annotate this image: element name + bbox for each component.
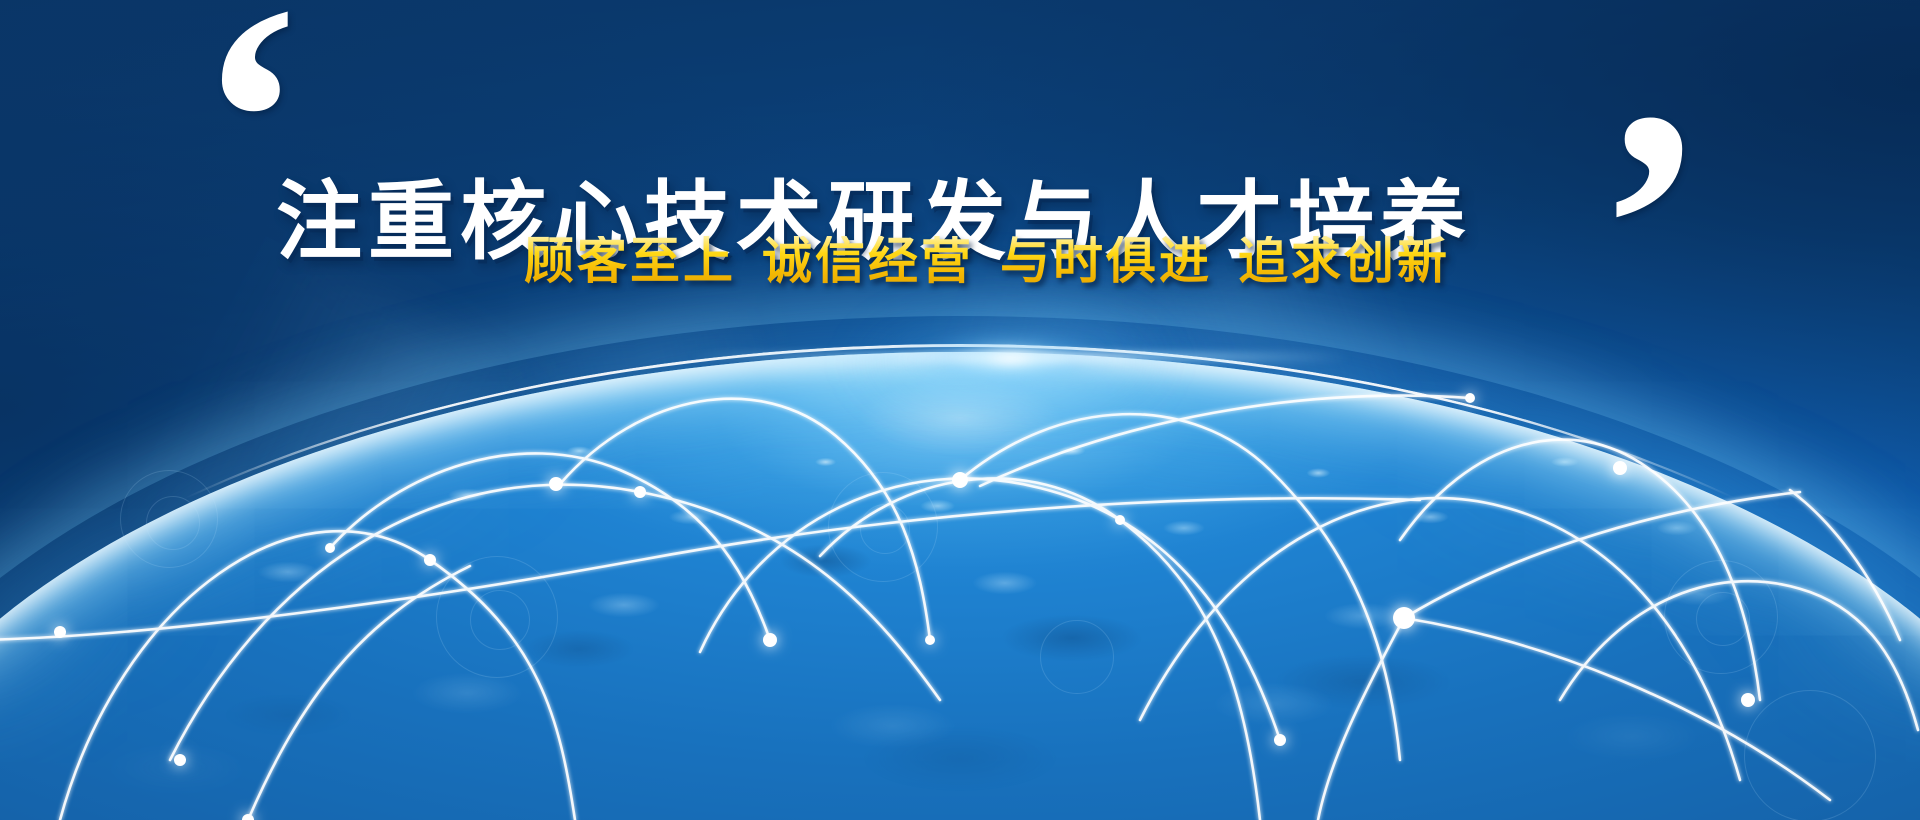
subtitle-segment-4: 追求创新 <box>1238 231 1450 290</box>
subtitle-segment-3: 与时俱进 <box>1000 231 1212 290</box>
closing-quote-mark: ’ <box>1596 62 1706 392</box>
promotional-banner: ‘ ’ 注重核心技术研发与人才培养 顾客至上诚信经营与时俱进追求创新 <box>0 0 1920 820</box>
banner-subtitle: 顾客至上诚信经营与时俱进追求创新 <box>524 236 1450 286</box>
lens-flare-core <box>905 330 1115 388</box>
subtitle-segment-1: 顾客至上 <box>524 231 736 290</box>
subtitle-segment-2: 诚信经营 <box>762 231 974 290</box>
